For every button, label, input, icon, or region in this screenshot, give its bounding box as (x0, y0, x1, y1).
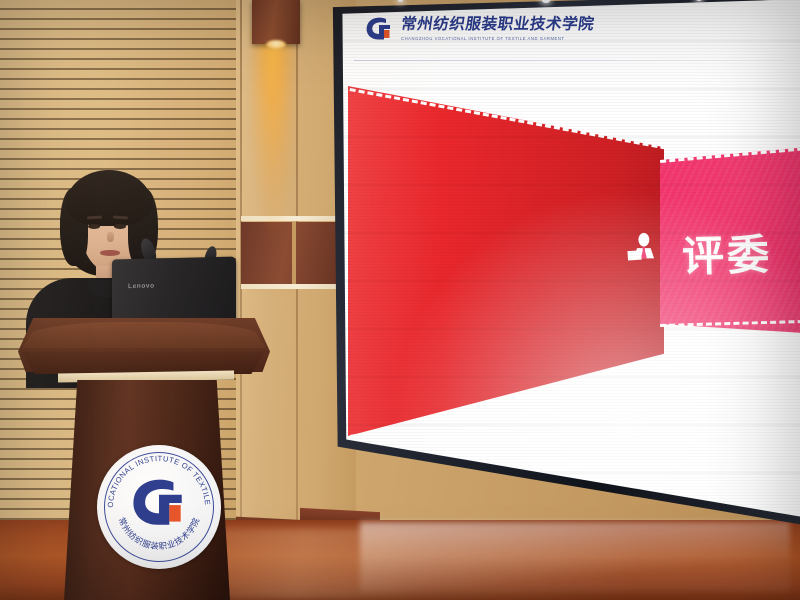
hair-front (66, 170, 152, 226)
screen-display-surface: 常州纺织服装职业技术学院 CHANGZHOU VOCATIONAL INSTIT… (330, 0, 800, 542)
header-divider (354, 60, 784, 61)
screenshot-root: 常州纺织服装职业技术学院 CHANGZHOU VOCATIONAL INSTIT… (0, 0, 800, 600)
bezel-highlight (398, 0, 403, 2)
sconce-glow (250, 28, 296, 328)
eye-left (88, 224, 100, 229)
eye-right (114, 224, 126, 229)
slide-header-logo: 常州纺织服装职业技术学院 CHANGZHOU VOCATIONAL INSTIT… (364, 16, 594, 42)
sconce-lamp-icon (266, 40, 286, 49)
laptop-brand-label: Lenovo (128, 282, 155, 290)
mouth (100, 250, 120, 256)
podium-emblem: CHANGZHOU VOCATIONAL INSTITUTE OF TEXTIL… (97, 445, 221, 569)
banner-label: 评委 (681, 221, 772, 284)
judge-person-icon (626, 232, 660, 266)
column-seam (296, 0, 298, 600)
institute-seal-icon (128, 476, 190, 530)
nose (107, 232, 114, 242)
podium-top-face (22, 322, 266, 348)
institute-name-en: CHANGZHOU VOCATIONAL INSTITUTE OF TEXTIL… (401, 35, 594, 41)
wall-sconce (252, 0, 300, 44)
institute-logo-icon (364, 16, 394, 42)
led-screen: 常州纺织服装职业技术学院 CHANGZHOU VOCATIONAL INSTIT… (330, 0, 800, 542)
column-seam (240, 0, 242, 600)
slide: 常州纺织服装职业技术学院 CHANGZHOU VOCATIONAL INSTIT… (330, 0, 800, 542)
institute-name-cn: 常州纺织服装职业技术学院 (400, 17, 595, 33)
